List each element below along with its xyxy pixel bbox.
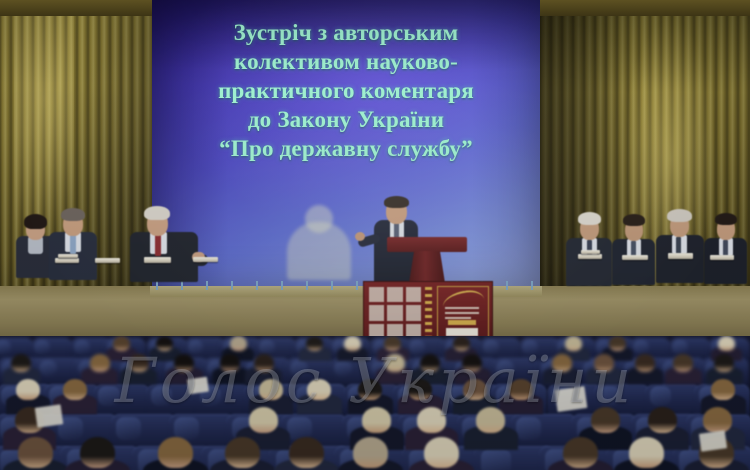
poster-box (446, 328, 478, 336)
audience-head (353, 437, 388, 468)
presidium-right-person-4 (704, 213, 748, 281)
poster-tag (448, 320, 476, 325)
poster-swoosh-icon (441, 288, 484, 307)
rail-post (306, 281, 308, 290)
rail-post (531, 281, 533, 290)
audience-head (80, 437, 115, 468)
audience-head (158, 437, 193, 468)
audience-head (230, 336, 247, 351)
audience-head (453, 336, 470, 351)
audience-head (220, 354, 240, 372)
audience-head (420, 354, 440, 372)
audience-head (552, 354, 572, 372)
audience-head (174, 354, 194, 372)
audience-paper-1 (35, 404, 64, 427)
audience-head (635, 354, 655, 372)
rail-post (231, 281, 233, 290)
audience-head (718, 336, 735, 351)
slide-line-4: до Закону України (150, 105, 542, 134)
seat-sheen (481, 449, 511, 470)
valance-left (0, 0, 152, 16)
audience-head (384, 336, 401, 351)
lectern-poster (437, 286, 489, 342)
seat-sheen (39, 360, 57, 377)
seat-sheen (483, 340, 499, 354)
presidium-right-person-1 (566, 212, 614, 282)
audience-head (225, 437, 260, 468)
audience-paper-4 (699, 430, 727, 451)
audience-head (711, 379, 735, 400)
book-r3 (622, 255, 648, 260)
audience-paper-2 (187, 377, 209, 395)
audience-head (306, 336, 323, 351)
seat-sheen (633, 340, 649, 354)
seat-sheen (259, 340, 275, 354)
rail-post (256, 281, 258, 290)
audience-head (358, 379, 382, 400)
audience-head (254, 354, 274, 372)
seat-sheen (116, 417, 141, 440)
seat-sheen (522, 340, 538, 354)
audience-head (509, 379, 533, 400)
audience-head (113, 336, 130, 351)
seat-sheen (496, 360, 514, 377)
rail-post (181, 281, 183, 290)
audience-paper-3 (555, 386, 588, 412)
audience-head (703, 407, 732, 433)
seat-sheen (598, 386, 619, 406)
audience-head (673, 354, 693, 372)
book-l2 (58, 254, 78, 258)
audience-head (249, 407, 278, 433)
audience-head (714, 354, 734, 372)
book-r2 (581, 250, 600, 254)
rail-post (206, 281, 208, 290)
audience-head (307, 379, 331, 400)
seat-sheen (0, 340, 11, 354)
presidium-left-person-3 (130, 206, 206, 280)
projection-screen: Зустріч з авторським колективом науково-… (150, 0, 542, 290)
audience-head (385, 354, 405, 372)
conference-photo-scene: Зустріч з авторським колективом науково-… (0, 0, 750, 470)
seat-sheen (409, 340, 425, 354)
slide-line-2: колективом науково- (150, 47, 542, 76)
book-r5 (710, 255, 734, 260)
speaker-shadow-silhouette (287, 222, 351, 280)
audience-head (648, 407, 677, 433)
presidium-right-person-3 (656, 209, 706, 281)
lectern-gold-strip (425, 287, 432, 339)
lectern-top (387, 237, 467, 252)
audience-head (156, 336, 173, 351)
rail-post (156, 281, 158, 290)
presidium-left-person-2 (48, 208, 98, 278)
book-l4 (144, 257, 171, 263)
rail-post (506, 281, 508, 290)
slide-line-5: “Про державну службу” (150, 134, 542, 163)
slide-text-block: Зустріч з авторським колективом науково-… (150, 18, 542, 163)
book-r1 (578, 254, 602, 259)
audience-head (63, 379, 87, 400)
audience-head (417, 407, 446, 433)
audience-head (344, 336, 361, 351)
audience-head (289, 437, 324, 468)
audience-head (90, 354, 110, 372)
audience-head (594, 354, 614, 372)
seat-sheen (290, 360, 308, 377)
book-l3 (95, 258, 120, 263)
book-l1 (55, 258, 79, 263)
audience-head (591, 407, 620, 433)
seat-sheen (334, 360, 352, 377)
audience-head (462, 354, 482, 372)
audience-head (565, 336, 582, 351)
rail-post (331, 281, 333, 290)
lectern-column (409, 251, 445, 283)
seat-sheen (174, 417, 199, 440)
audience-head (476, 407, 505, 433)
slide-line-1: Зустріч з авторським (150, 18, 542, 47)
audience-head (424, 437, 459, 468)
seat-sheen (188, 340, 204, 354)
seat-sheen (74, 340, 90, 354)
valance-right (540, 0, 750, 16)
audience-area (0, 336, 750, 470)
audience-head (463, 379, 487, 400)
seat-sheen (672, 340, 688, 354)
audience-head (362, 407, 391, 433)
lectern-badge-grid (369, 287, 421, 339)
seat-sheen (516, 417, 541, 440)
audience-head (563, 437, 598, 468)
seat-sheen (151, 386, 172, 406)
seat-sheen (34, 340, 50, 354)
audience-head (408, 379, 432, 400)
presidium-right-person-2 (612, 214, 656, 282)
audience-head (259, 379, 283, 400)
book-r4 (668, 253, 693, 259)
audience-head (129, 354, 149, 372)
audience-head (11, 354, 31, 372)
rail-post (281, 281, 283, 290)
seat-sheen (650, 386, 671, 406)
audience-head (16, 379, 40, 400)
audience-head (629, 437, 664, 468)
book-l5 (193, 257, 218, 262)
seat-sheen (98, 386, 119, 406)
audience-head (18, 437, 53, 468)
slide-line-3: практичного коментаря (150, 76, 542, 105)
audience-head (609, 336, 626, 351)
lectern (397, 237, 457, 345)
